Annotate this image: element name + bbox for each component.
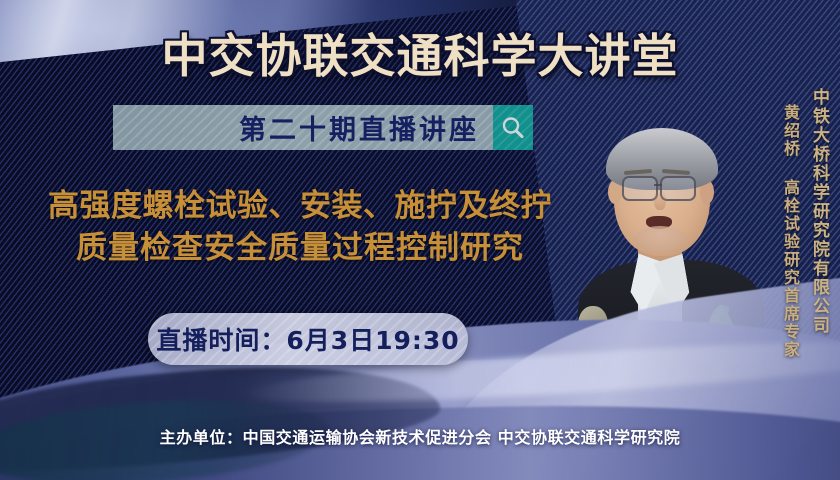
broadcast-time-label: 直播时间：6月3日19:30 [156,321,459,357]
lecture-topic-line2: 质量检查安全质量过程控制研究 [0,228,600,270]
speaker-glasses-bridge [654,184,662,186]
organizer-footer: 主办单位：中国交通运输协会新技术促进分会 中交协联交通科学研究院 [0,424,840,448]
live-broadcast-poster: 中交协联交通科学大讲堂 第二十期直播讲座 高强度螺栓试验、安装、施拧及终拧 质量… [0,0,840,480]
lecture-topic: 高强度螺栓试验、安装、施拧及终拧 质量检查安全质量过程控制研究 [0,186,600,270]
speaker-organization: 中铁大桥科学研究院有限公司 [807,88,832,335]
speaker-name-and-title: 黄绍桥 高栓试验研究首席专家 [778,104,802,359]
search-button[interactable] [493,105,533,150]
speaker-nose [654,190,666,210]
lecture-topic-line1: 高强度螺栓试验、安装、施拧及终拧 [0,186,600,228]
broadcast-time-badge: 直播时间：6月3日19:30 [148,313,468,365]
subtitle-banner: 第二十期直播讲座 [113,105,533,150]
subtitle-bar: 第二十期直播讲座 [113,105,493,150]
page-title: 中交协联交通科学大讲堂 [0,20,840,86]
subtitle-label: 第二十期直播讲座 [239,108,479,147]
search-icon [500,115,526,141]
speaker-glasses-left [622,176,658,201]
speaker-chin [634,226,686,252]
flower-bouquet [560,310,775,390]
